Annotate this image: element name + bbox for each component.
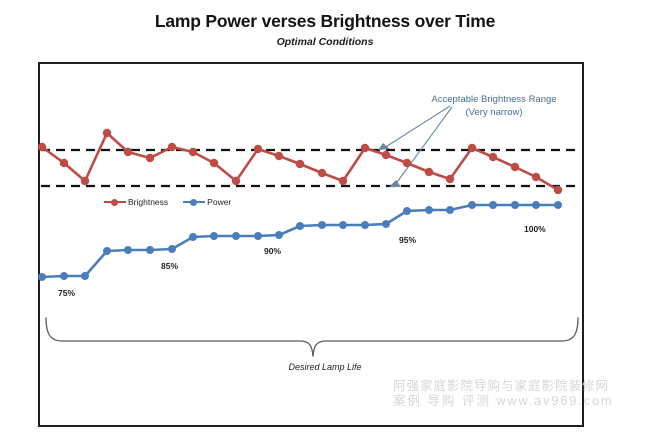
power-data-label-90: 90% xyxy=(264,246,281,256)
acceptable-range-annotation: Acceptable Brightness Range (Very narrow… xyxy=(404,93,584,119)
power-data-label-95: 95% xyxy=(399,235,416,245)
legend-item-brightness[interactable]: Brightness xyxy=(104,197,168,207)
power-data-label-75: 75% xyxy=(58,288,75,298)
legend-marker-brightness-icon xyxy=(104,198,126,207)
annotation-line-1: Acceptable Brightness Range xyxy=(431,94,556,105)
chart-legend: Brightness Power xyxy=(104,197,231,207)
annotation-line-2: (Very narrow) xyxy=(404,106,584,119)
desired-lamp-life-brace xyxy=(46,318,578,356)
series-brightness xyxy=(38,129,562,194)
legend-marker-power-icon xyxy=(183,198,205,207)
chart-canvas: Lamp Power verses Brightness over Time O… xyxy=(0,0,650,435)
series-power xyxy=(38,201,562,281)
legend-label-brightness: Brightness xyxy=(128,197,168,207)
power-data-label-100: 100% xyxy=(524,224,546,234)
desired-lamp-life-label: Desired Lamp Life xyxy=(0,362,650,372)
legend-label-power: Power xyxy=(207,197,231,207)
power-data-label-85: 85% xyxy=(161,261,178,271)
legend-item-power[interactable]: Power xyxy=(183,197,231,207)
